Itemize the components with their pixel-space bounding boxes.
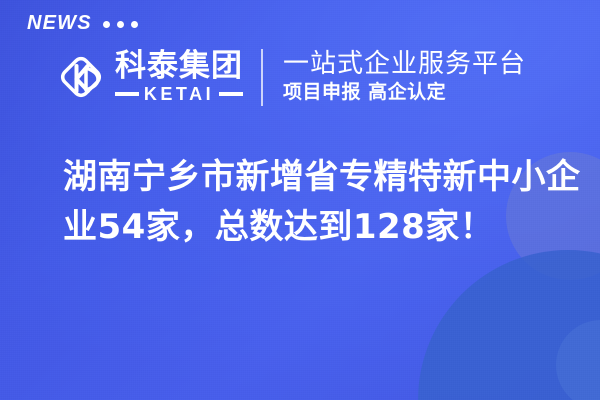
news-kicker: NEWS	[27, 13, 138, 33]
logo-name-latin: KETAI	[144, 85, 214, 103]
headline-line-1: 湖南宁乡市新增省专精特新中小企	[63, 152, 568, 202]
ketai-diamond-kd-logo-icon	[56, 51, 106, 103]
tagline-main: 一站式企业服务平台	[283, 50, 526, 78]
tagline-sub: 项目申报 高企认定	[283, 82, 526, 104]
logo-latin-row: KETAI	[115, 85, 243, 103]
logo-wordmark: 科泰集团 KETAI	[115, 51, 243, 103]
logo-rule-left	[115, 92, 139, 96]
decorative-circle-small-icon	[556, 320, 600, 400]
logo-name-cn: 科泰集团	[115, 51, 243, 82]
decorative-circle-large-icon	[418, 250, 600, 400]
page-title: 湖南宁乡市新增省专精特新中小企 业54家，总数达到128家！	[63, 152, 568, 252]
news-banner: NEWS 科泰集团	[0, 0, 600, 400]
headline-line-2: 业54家，总数达到128家！	[63, 202, 568, 252]
decorative-arc-icon	[438, 246, 600, 400]
dot-icon	[117, 21, 124, 28]
brand-row: 科泰集团 KETAI 一站式企业服务平台 项目申报 高企认定	[56, 44, 526, 110]
news-dots-icon	[103, 21, 138, 28]
dot-icon	[103, 21, 110, 28]
news-label: NEWS	[27, 13, 92, 33]
tagline-block: 一站式企业服务平台 项目申报 高企认定	[283, 50, 526, 104]
dot-icon	[131, 21, 138, 28]
logo-rule-right	[219, 92, 243, 96]
brand-divider	[261, 49, 263, 106]
